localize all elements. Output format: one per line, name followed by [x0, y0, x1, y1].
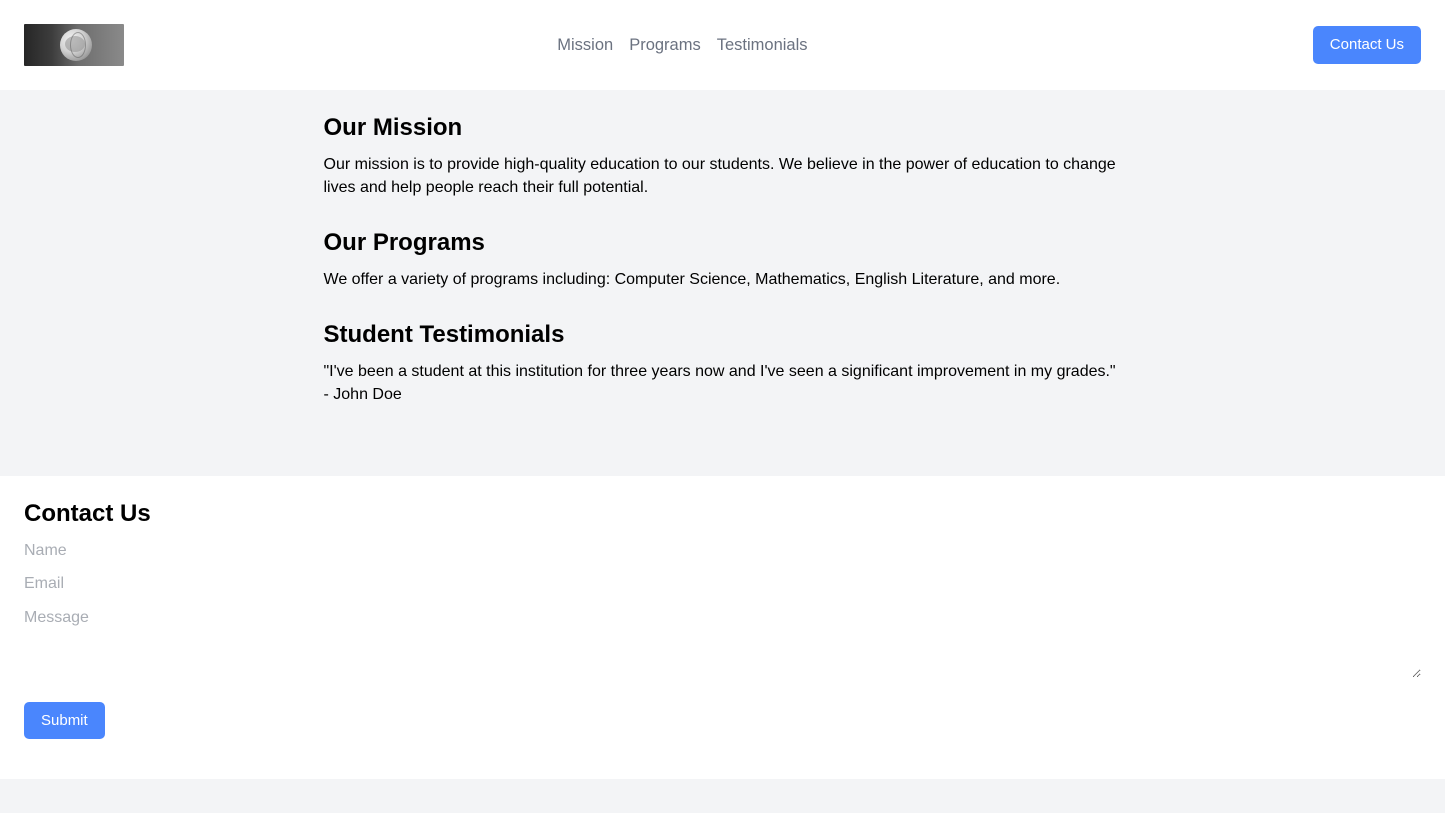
- section-testimonials: Student Testimonials "I've been a studen…: [324, 321, 1122, 406]
- site-footer: Contact Us Submit: [0, 476, 1445, 778]
- contact-us-button[interactable]: Contact Us: [1313, 26, 1421, 63]
- page-bottom-strip: [0, 779, 1445, 791]
- main-nav: Mission Programs Testimonials: [557, 37, 807, 54]
- main-content: Our Mission Our mission is to provide hi…: [308, 90, 1138, 476]
- name-field[interactable]: [24, 539, 1421, 562]
- section-programs-body: We offer a variety of programs including…: [324, 268, 1122, 291]
- contact-form: Submit: [24, 539, 1421, 739]
- section-mission-heading: Our Mission: [324, 114, 1122, 143]
- site-header: Mission Programs Testimonials Contact Us: [0, 0, 1445, 90]
- submit-button[interactable]: Submit: [24, 702, 105, 739]
- institution-logo: [24, 24, 124, 66]
- section-programs-heading: Our Programs: [324, 229, 1122, 258]
- section-programs: Our Programs We offer a variety of progr…: [324, 229, 1122, 291]
- message-field[interactable]: [24, 606, 1421, 678]
- section-testimonials-body: "I've been a student at this institution…: [324, 360, 1122, 406]
- nav-link-testimonials[interactable]: Testimonials: [717, 37, 808, 54]
- nav-link-programs[interactable]: Programs: [629, 37, 701, 54]
- contact-heading: Contact Us: [24, 500, 1421, 529]
- nav-link-mission[interactable]: Mission: [557, 37, 613, 54]
- email-field[interactable]: [24, 572, 1421, 595]
- section-testimonials-heading: Student Testimonials: [324, 321, 1122, 350]
- globe-icon: [60, 29, 92, 61]
- section-mission-body: Our mission is to provide high-quality e…: [324, 153, 1122, 199]
- section-mission: Our Mission Our mission is to provide hi…: [324, 114, 1122, 199]
